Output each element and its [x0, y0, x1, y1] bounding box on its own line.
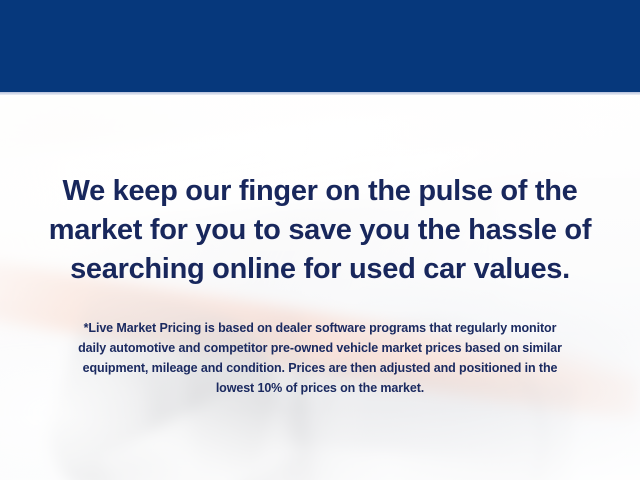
headline-line-3: searching online for used car values. — [0, 250, 640, 289]
live-market-pricing-banner: Live Market Pricing* We keep our finger … — [0, 0, 640, 480]
disclaimer-text: *Live Market Pricing is based on dealer … — [20, 318, 620, 398]
disclaimer-line-3: equipment, mileage and condition. Prices… — [20, 358, 620, 378]
header-underline-divider — [0, 92, 640, 95]
header-band — [0, 0, 640, 92]
disclaimer-line-2: daily automotive and competitor pre-owne… — [20, 338, 620, 358]
headline-line-1: We keep our finger on the pulse of the — [0, 172, 640, 211]
headline-copy: We keep our finger on the pulse of the m… — [0, 172, 640, 289]
disclaimer-line-4: lowest 10% of prices on the market. — [20, 378, 620, 398]
headline-line-2: market for you to save you the hassle of — [0, 211, 640, 250]
disclaimer-line-1: *Live Market Pricing is based on dealer … — [20, 318, 620, 338]
